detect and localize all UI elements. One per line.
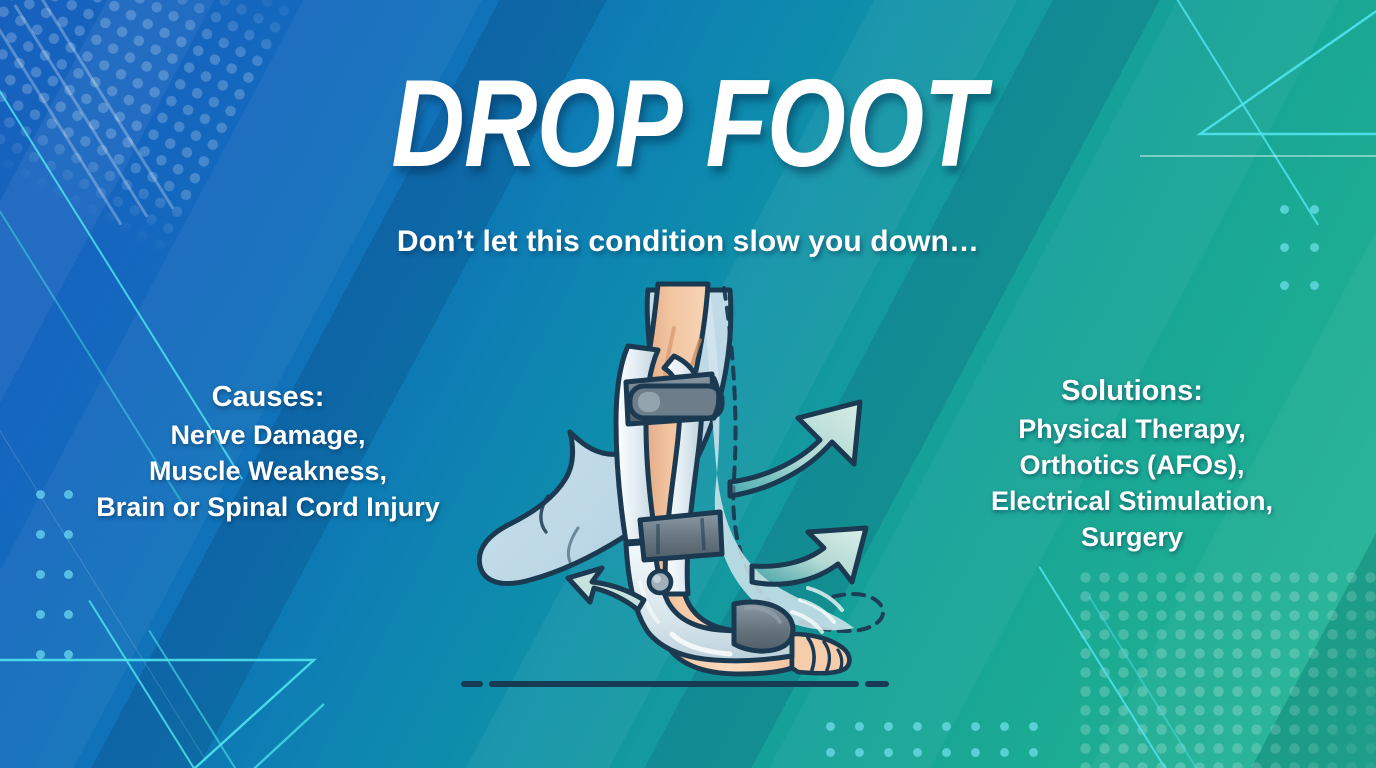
solutions-line-3: Electrical Stimulation, [922,484,1342,520]
solutions-line-2: Orthotics (AFOs), [922,448,1342,484]
page-title: DROP FOOT [124,62,1252,186]
solutions-heading: Solutions: [922,372,1342,410]
halftone-dots-bottom-right [1076,568,1376,768]
dot-grid-top-right [1280,205,1340,319]
straight-up-arrow [752,528,866,584]
causes-heading: Causes: [38,378,498,416]
leg-with-afo-brace-illustration [462,282,902,712]
forefoot-strap [734,602,793,651]
causes-line-2: Muscle Weakness, [38,454,498,490]
braced-foot-toes [792,634,849,673]
solutions-line-1: Physical Therapy, [922,412,1342,448]
solutions-line-4: Surgery [922,520,1342,556]
solutions-block: Solutions: Physical Therapy, Orthotics (… [922,372,1342,556]
causes-line-1: Nerve Damage, [38,418,498,454]
subtitle: Don’t let this condition slow you down… [0,225,1376,259]
calf-strap [626,374,722,424]
curved-up-arrow [730,402,860,496]
dot-grid-bottom-center [826,722,1058,768]
causes-block: Causes: Nerve Damage, Muscle Weakness, B… [38,378,498,526]
infographic-poster: DROP FOOT Don’t let this condition slow … [0,0,1376,768]
causes-line-3: Brain or Spinal Cord Injury [38,490,498,526]
ankle-strap [640,512,722,560]
